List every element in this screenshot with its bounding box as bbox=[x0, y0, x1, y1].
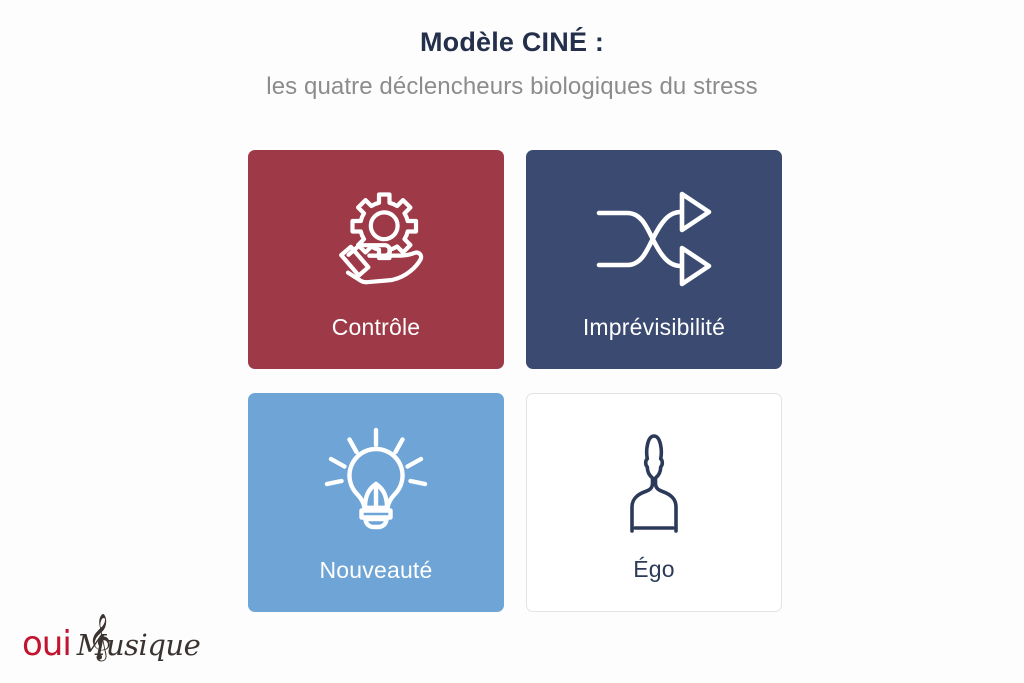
hand-gear-icon bbox=[317, 184, 435, 294]
logo-word-oui: oui bbox=[22, 627, 71, 661]
shuffle-arrows-icon bbox=[593, 188, 715, 290]
card-controle-label: Contrôle bbox=[332, 316, 421, 369]
card-ego-icon-wrap bbox=[527, 394, 781, 558]
oui-musique-logo[interactable]: oui 𝄞 Musique bbox=[22, 609, 202, 661]
card-ego-label: Égo bbox=[633, 558, 675, 611]
page-subtitle: les quatre déclencheurs biologiques du s… bbox=[0, 72, 1024, 102]
card-imprevisibilite[interactable]: Imprévisibilité bbox=[526, 150, 782, 369]
ciné-model-grid: Contrôle Imprévisibilité bbox=[248, 150, 782, 612]
header: Modèle CINÉ : les quatre déclencheurs bi… bbox=[0, 0, 1024, 102]
card-ego[interactable]: Égo bbox=[526, 393, 782, 612]
card-imprevisibilite-icon-wrap bbox=[526, 150, 782, 316]
card-controle[interactable]: Contrôle bbox=[248, 150, 504, 369]
card-nouveaute-label: Nouveauté bbox=[319, 559, 432, 612]
logo-word-musique: Musique bbox=[77, 631, 200, 660]
card-controle-icon-wrap bbox=[248, 150, 504, 316]
card-nouveaute[interactable]: Nouveauté bbox=[248, 393, 504, 612]
card-imprevisibilite-label: Imprévisibilité bbox=[583, 316, 725, 369]
page-title: Modèle CINÉ : bbox=[0, 26, 1024, 60]
lightbulb-icon bbox=[320, 426, 432, 538]
card-nouveaute-icon-wrap bbox=[248, 393, 504, 559]
person-bust-icon bbox=[602, 428, 706, 536]
